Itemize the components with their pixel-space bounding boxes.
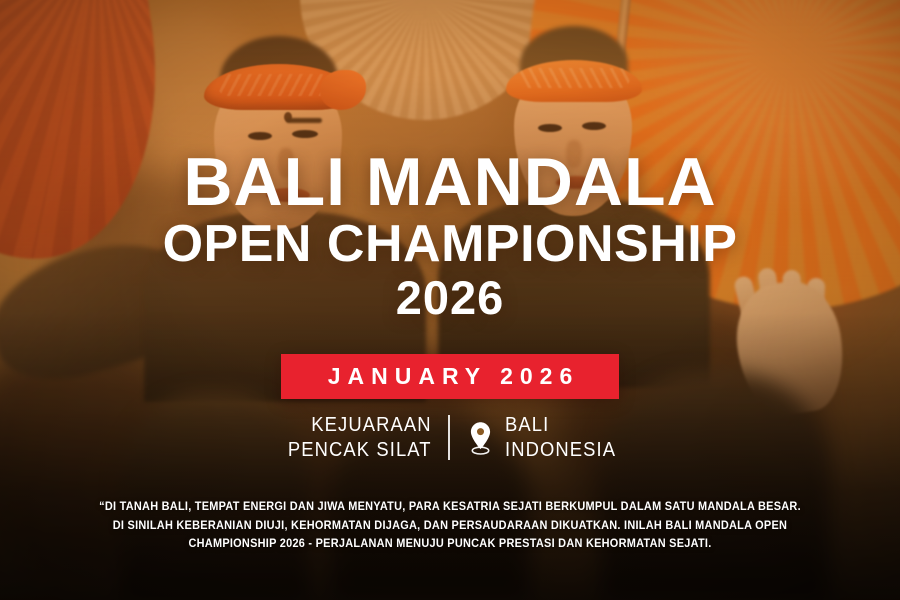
quote-line-3: CHAMPIONSHIP 2026 - PERJALANAN MENUJU PU… (81, 535, 818, 554)
map-pin-icon (467, 421, 494, 455)
location-line-1: BALI (505, 413, 616, 437)
event-type-line-1: KEJUARAAN (288, 413, 432, 437)
event-location-block: BALI INDONESIA (450, 413, 626, 462)
event-type-block: KEJUARAAN PENCAK SILAT (288, 413, 447, 462)
event-type-line-2: PENCAK SILAT (288, 438, 432, 462)
event-info-row: KEJUARAAN PENCAK SILAT BALI INDONESIA (274, 413, 625, 462)
title-block: BALI MANDALA OPEN CHAMPIONSHIP 2026 (0, 152, 900, 321)
event-quote: “DI TANAH BALI, TEMPAT ENERGI DAN JIWA M… (23, 498, 878, 554)
page-title-year: 2026 (0, 274, 900, 321)
quote-line-2: DI SINILAH KEBERANIAN DIUJI, KEHORMATAN … (81, 517, 818, 536)
location-line-2: INDONESIA (505, 438, 616, 462)
quote-line-1: “DI TANAH BALI, TEMPAT ENERGI DAN JIWA M… (81, 498, 818, 517)
page-title-line-1: BALI MANDALA (0, 152, 900, 213)
event-date-badge: JANUARY 2026 (281, 354, 619, 399)
poster-content: BALI MANDALA OPEN CHAMPIONSHIP 2026 JANU… (0, 0, 900, 600)
location-text: BALI INDONESIA (505, 413, 616, 462)
page-title-line-2: OPEN CHAMPIONSHIP (0, 217, 900, 272)
event-poster: BALI MANDALA OPEN CHAMPIONSHIP 2026 JANU… (0, 0, 900, 600)
